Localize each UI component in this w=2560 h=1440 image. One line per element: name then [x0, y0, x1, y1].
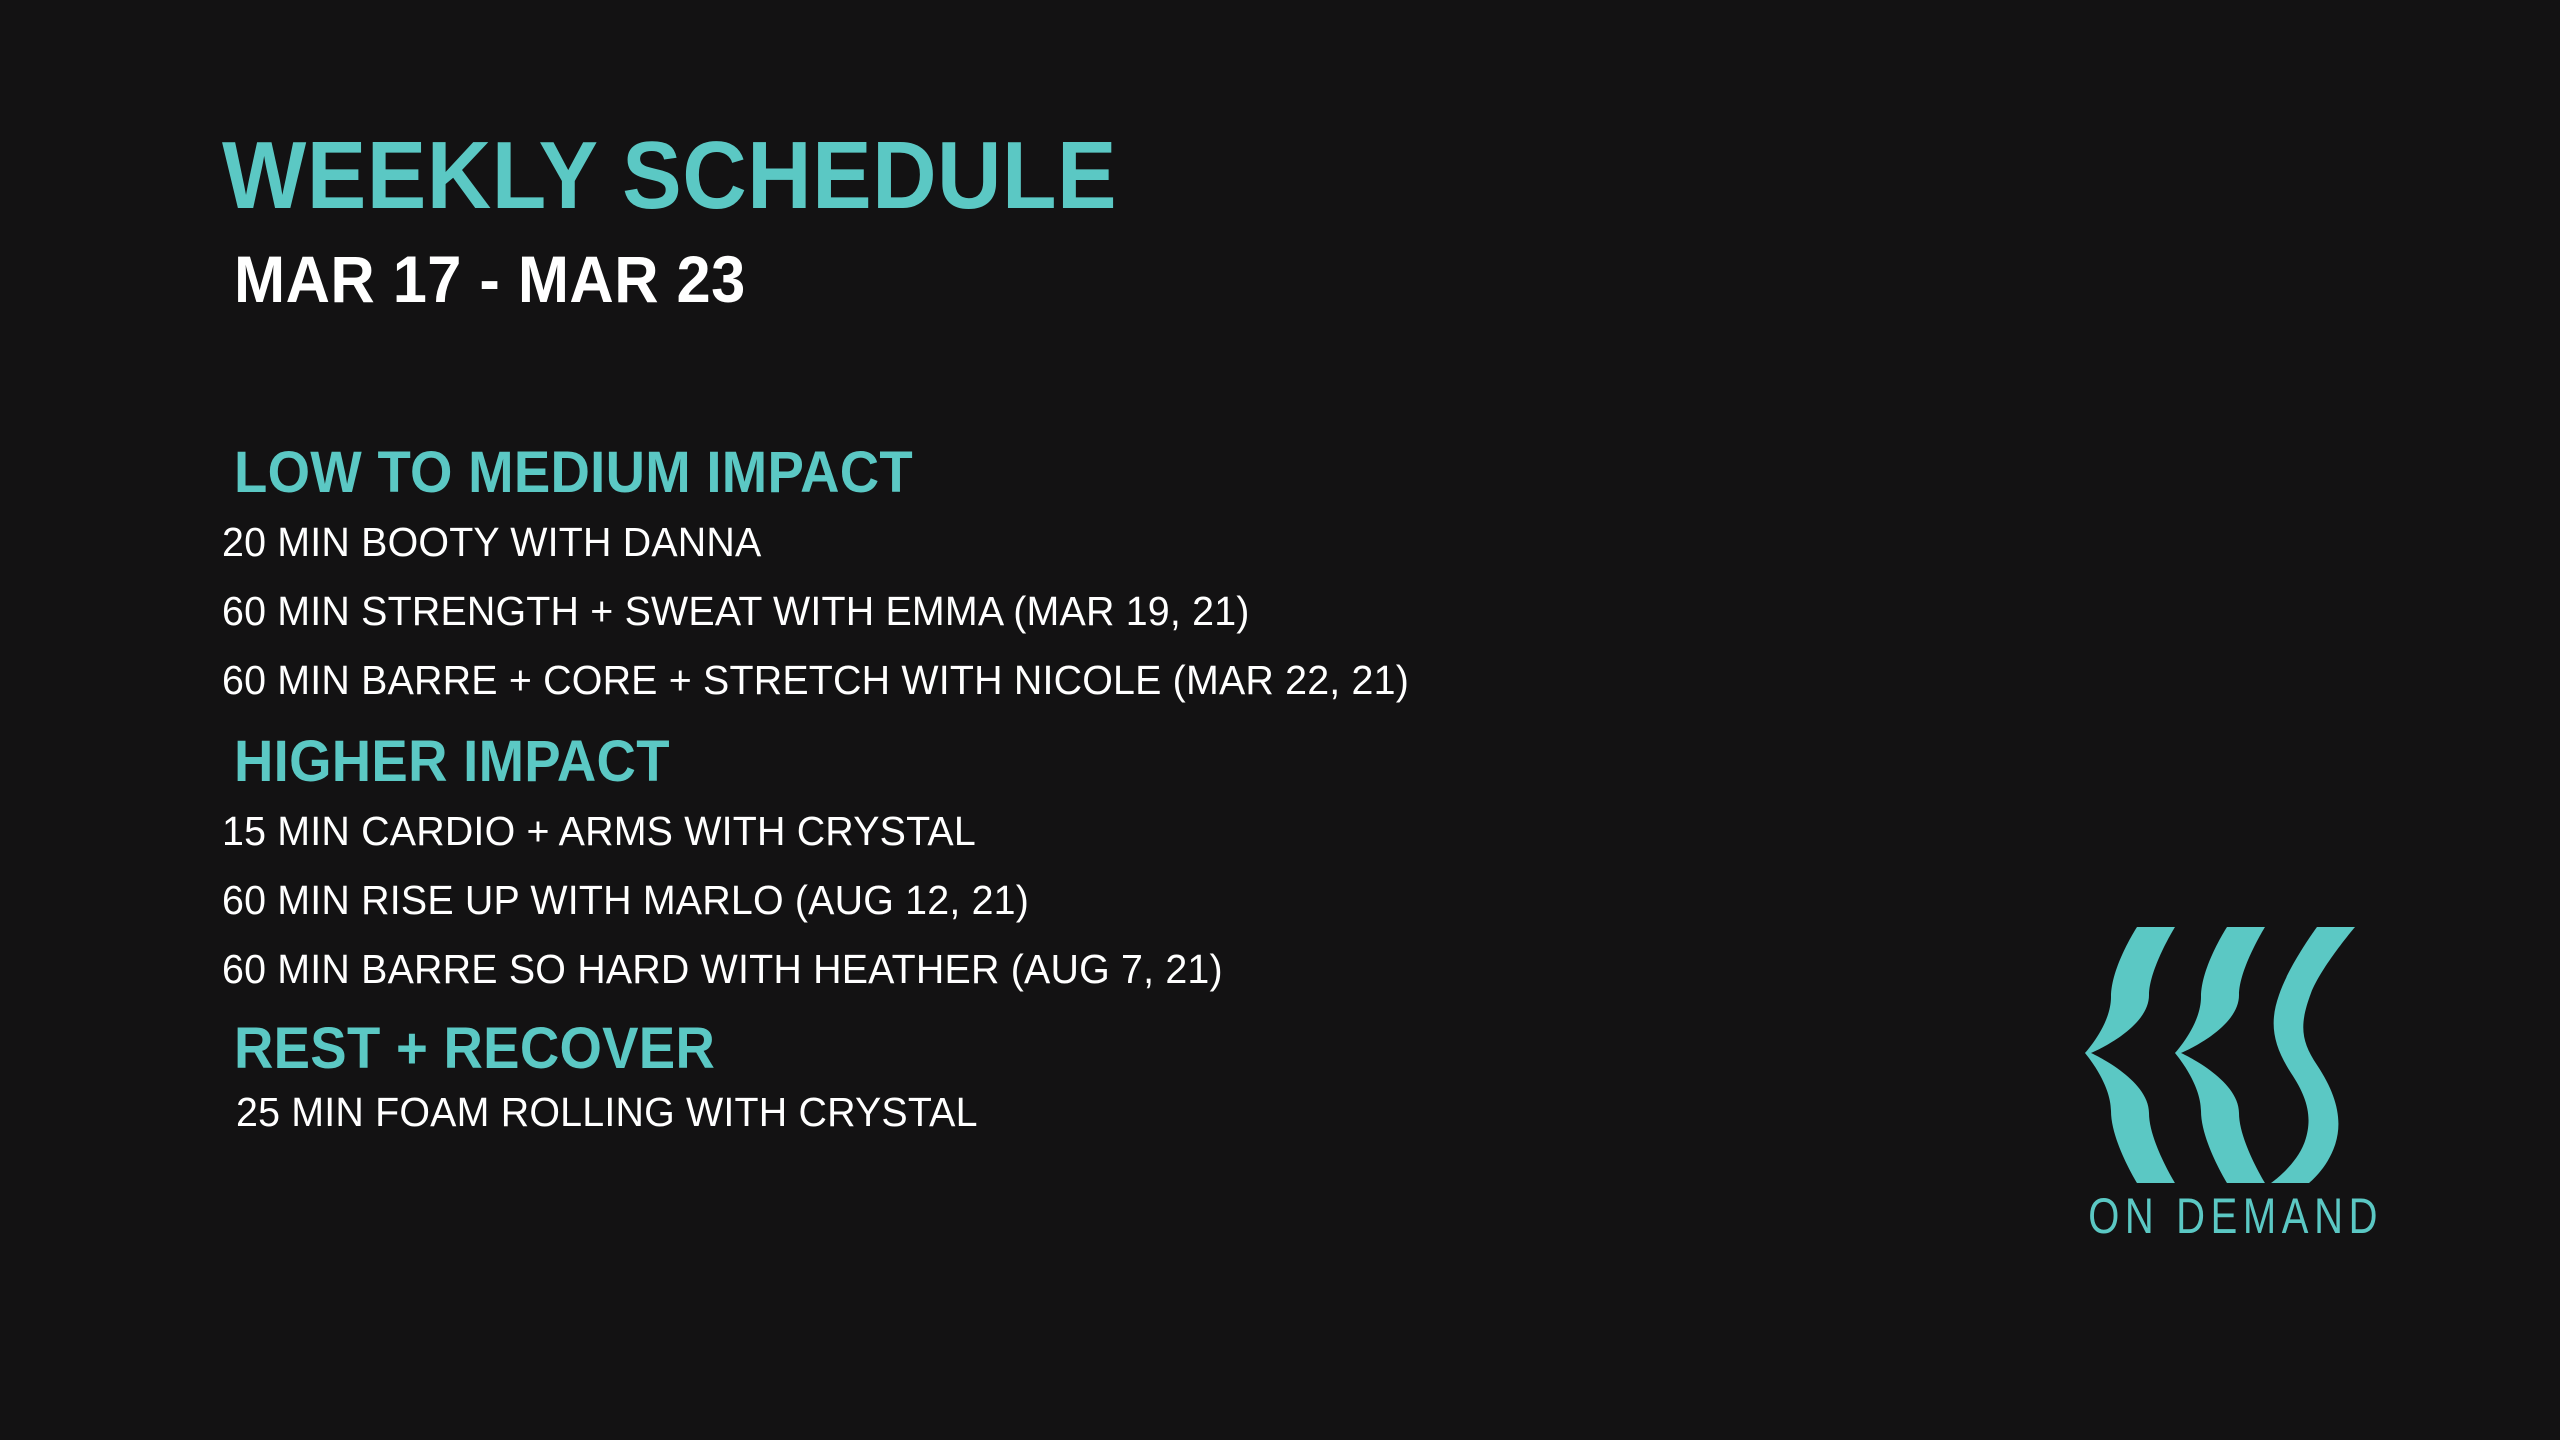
page-title: WEEKLY SCHEDULE [222, 128, 1117, 224]
logo-wordmark: ON DEMAND [2085, 1191, 2325, 1241]
list-item: 20 MIN BOOTY WITH DANNA [222, 522, 1854, 563]
header: WEEKLY SCHEDULE MAR 17 - MAR 23 [222, 128, 1184, 312]
schedule-sections: LOW TO MEDIUM IMPACT 20 MIN BOOTY WITH D… [222, 444, 1922, 1133]
list-item: 25 MIN FOAM ROLLING WITH CRYSTAL [236, 1092, 1855, 1133]
section-class-list: 25 MIN FOAM ROLLING WITH CRYSTAL [222, 1092, 1922, 1133]
schedule-slide: WEEKLY SCHEDULE MAR 17 - MAR 23 LOW TO M… [0, 0, 2560, 1440]
list-item: 60 MIN STRENGTH + SWEAT WITH EMMA (MAR 1… [222, 591, 1854, 632]
three-wave-mark-icon [2085, 925, 2355, 1185]
list-item: 60 MIN RISE UP WITH MARLO (AUG 12, 21) [222, 880, 1854, 921]
list-item: 60 MIN BARRE SO HARD WITH HEATHER (AUG 7… [222, 949, 1854, 990]
section-heading: HIGHER IMPACT [234, 733, 1821, 791]
date-range: MAR 17 - MAR 23 [234, 246, 1118, 312]
section-heading: REST + RECOVER [234, 1020, 1821, 1078]
brand-logo: ON DEMAND [2085, 925, 2385, 1265]
section-low-to-medium-impact: LOW TO MEDIUM IMPACT 20 MIN BOOTY WITH D… [222, 444, 1922, 701]
list-item: 15 MIN CARDIO + ARMS WITH CRYSTAL [222, 811, 1854, 852]
section-class-list: 15 MIN CARDIO + ARMS WITH CRYSTAL 60 MIN… [222, 811, 1922, 990]
section-heading: LOW TO MEDIUM IMPACT [234, 444, 1821, 502]
section-class-list: 20 MIN BOOTY WITH DANNA 60 MIN STRENGTH … [222, 522, 1922, 701]
section-higher-impact: HIGHER IMPACT 15 MIN CARDIO + ARMS WITH … [222, 733, 1922, 990]
list-item: 60 MIN BARRE + CORE + STRETCH WITH NICOL… [222, 660, 1854, 701]
section-rest-and-recover: REST + RECOVER 25 MIN FOAM ROLLING WITH … [222, 1020, 1922, 1133]
